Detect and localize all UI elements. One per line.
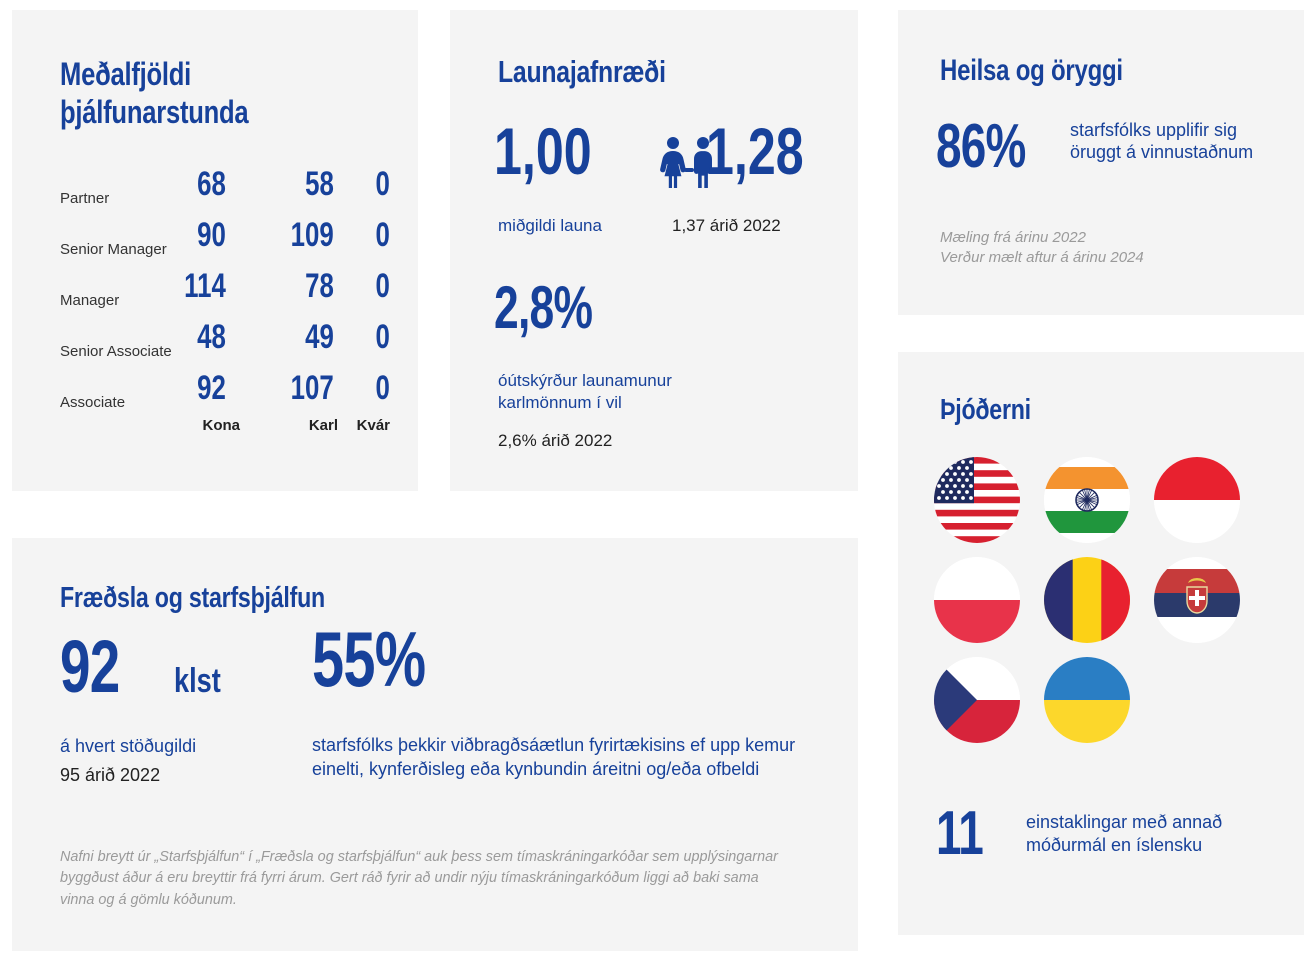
training-hours-panel: Meðalfjöldi þjálfunarstunda Partner 68 5… — [12, 10, 418, 491]
health-safety-title-wrap: Heilsa og öryggi — [940, 54, 1280, 89]
flag-poland-icon — [934, 557, 1020, 643]
training-hours-previous-year: 95 árið 2022 — [60, 765, 290, 786]
health-safety-description: starfsfólks upplifir sig öruggt á vinnus… — [1070, 120, 1280, 164]
native-language-description: einstaklingar með annað móðurmál en ísle… — [1026, 811, 1266, 857]
nationality-panel: Þjóðerni — [898, 352, 1304, 935]
cell-karl: 109 — [291, 218, 334, 252]
pay-gap-stat: 2,8% — [494, 278, 627, 338]
flag-czechia-icon — [934, 657, 1020, 743]
table-row: Associate 92 107 0 — [60, 364, 390, 415]
flag-usa-icon — [934, 457, 1020, 543]
pay-gap-previous-year: 2,6% árið 2022 — [498, 430, 612, 452]
cell-karl: 107 — [291, 371, 334, 405]
cell-karl: 49 — [305, 320, 334, 354]
awareness-value: 55% — [312, 620, 425, 698]
training-hours-value-wrap: 92 klst — [60, 638, 290, 716]
education-training-title-wrap: Fræðsla og starfsþjálfun — [60, 582, 660, 615]
pay-equality-title-wrap: Launajafnræði — [498, 54, 838, 90]
health-safety-title: Heilsa og öryggi — [940, 54, 1212, 89]
cell-kona: 68 — [197, 167, 226, 201]
row-label: Associate — [60, 394, 125, 411]
pay-equality-panel: Launajafnræði 1,00 1,28 miðgildi launa 1… — [450, 10, 858, 491]
native-language-count: 11 — [936, 803, 983, 865]
page-title: Meðalfjöldi þjálfunarstunda — [60, 56, 332, 132]
row-label: Senior Manager — [60, 241, 167, 258]
column-header-kvar: Kvár — [357, 417, 390, 434]
cell-kona: 92 — [197, 371, 226, 405]
health-safety-panel: Heilsa og öryggi 86% starfsfólks upplifi… — [898, 10, 1304, 315]
pay-gap-value: 2,8% — [494, 278, 592, 338]
flag-row — [934, 557, 1264, 643]
cell-kvar: 0 — [376, 218, 390, 252]
health-safety-stat: 86% starfsfólks upplifir sig öruggt á vi… — [936, 120, 1276, 198]
flag-romania-icon — [1044, 557, 1130, 643]
education-training-title: Fræðsla og starfsþjálfun — [60, 582, 540, 615]
training-hours-caption: á hvert stöðugildi — [60, 736, 290, 757]
cell-kvar: 0 — [376, 320, 390, 354]
flag-india-icon — [1044, 457, 1130, 543]
flag-serbia-icon — [1154, 557, 1240, 643]
cell-kona: 48 — [197, 320, 226, 354]
ratio-previous-year: 1,37 árið 2022 — [672, 215, 781, 237]
training-hours-value: 92 — [60, 630, 119, 704]
education-training-panel: Fræðsla og starfsþjálfun 92 klst á hvert… — [12, 538, 858, 951]
ratio-caption: miðgildi launa — [498, 215, 602, 237]
training-hours-table: Partner 68 58 0 Senior Manager 90 109 0 … — [60, 160, 390, 447]
cell-kvar: 0 — [376, 269, 390, 303]
column-header-kona: Kona — [203, 417, 241, 434]
flag-indonesia-icon — [1154, 457, 1240, 543]
flag-row — [934, 457, 1264, 543]
row-label: Senior Associate — [60, 343, 172, 360]
health-safety-value: 86% — [936, 116, 1026, 178]
training-hours-unit: klst — [174, 662, 221, 701]
nationality-title-wrap: Þjóðerni — [940, 394, 1280, 427]
cell-kona: 114 — [184, 269, 226, 303]
awareness-description: starfsfólks þekkir viðbragðsáætlun fyrir… — [312, 734, 822, 782]
pay-ratio-row: 1,00 1,28 — [494, 122, 844, 198]
column-header-karl: Karl — [309, 417, 338, 434]
row-label: Partner — [60, 190, 109, 207]
training-hours-stat: 92 klst á hvert stöðugildi 95 árið 2022 — [60, 638, 290, 786]
cell-karl: 78 — [305, 269, 334, 303]
nationality-title: Þjóðerni — [940, 394, 1212, 427]
flag-ukraine-icon — [1044, 657, 1130, 743]
pay-gap-caption: óútskýrður launamunur karlmönnum í vil — [498, 370, 798, 414]
health-safety-note: Mæling frá árinu 2022 Verður mælt aftur … — [940, 228, 1270, 269]
table-row: Partner 68 58 0 — [60, 160, 390, 211]
education-training-note: Nafni breytt úr „Starfsþjálfun“ í „Fræðs… — [60, 846, 790, 910]
table-row: Senior Manager 90 109 0 — [60, 211, 390, 262]
pay-equality-title: Launajafnræði — [498, 54, 770, 90]
ratio-women-value: 1,00 — [494, 118, 592, 184]
native-language-stat: 11 einstaklingar með annað móðurmál en í… — [936, 807, 1276, 887]
table-row: Senior Associate 48 49 0 — [60, 313, 390, 364]
awareness-value-wrap: 55% — [312, 630, 822, 716]
awareness-stat: 55% starfsfólks þekkir viðbragðsáætlun f… — [312, 630, 822, 782]
row-label: Manager — [60, 292, 119, 309]
table-row: Manager 114 78 0 — [60, 262, 390, 313]
ratio-men-value: 1,28 — [706, 118, 804, 184]
cell-kona: 90 — [197, 218, 226, 252]
cell-kvar: 0 — [376, 371, 390, 405]
cell-karl: 58 — [305, 167, 334, 201]
table-column-headers: Kona Karl Kvár — [60, 417, 390, 447]
training-hours-title-wrap: Meðalfjöldi þjálfunarstunda — [60, 56, 400, 132]
flag-grid — [934, 457, 1264, 757]
flag-row — [934, 657, 1264, 743]
cell-kvar: 0 — [376, 167, 390, 201]
